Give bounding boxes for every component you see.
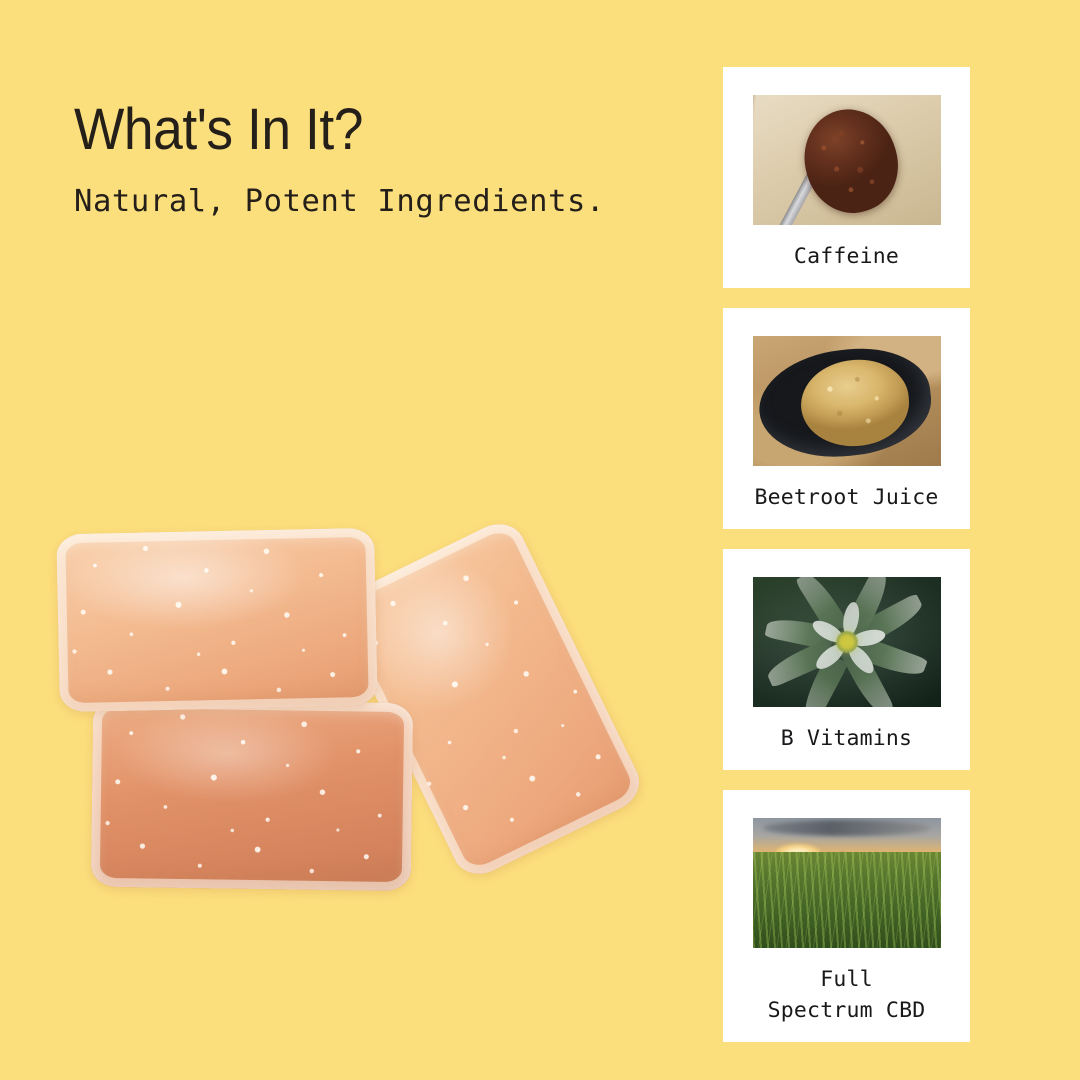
hemp-field-sunset-photo bbox=[753, 818, 941, 948]
powder-on-black-spoon-photo bbox=[753, 336, 941, 466]
ingredient-label: Caffeine bbox=[794, 241, 899, 272]
ingredient-label: Full Spectrum CBD bbox=[768, 964, 926, 1026]
page-subtitle: Natural, Potent Ingredients. bbox=[74, 182, 694, 222]
coffee-grounds-on-spoon-photo bbox=[753, 95, 941, 225]
ingredient-label: B Vitamins bbox=[781, 723, 912, 754]
gummy-piece-bottom bbox=[91, 699, 414, 891]
ingredient-card-b-vitamins[interactable]: B Vitamins bbox=[723, 549, 970, 770]
ingredient-card-full-spectrum-cbd[interactable]: Full Spectrum CBD bbox=[723, 790, 970, 1042]
ingredient-card-caffeine[interactable]: Caffeine bbox=[723, 67, 970, 288]
ingredients-infographic: What's In It? Natural, Potent Ingredient… bbox=[0, 0, 1080, 1080]
green-plant-flower-photo bbox=[753, 577, 941, 707]
gummy-piece-top bbox=[56, 528, 378, 713]
page-title: What's In It? bbox=[74, 100, 644, 160]
product-photo bbox=[40, 505, 700, 925]
header-block: What's In It? Natural, Potent Ingredient… bbox=[74, 100, 694, 222]
ingredient-card-beetroot-juice[interactable]: Beetroot Juice bbox=[723, 308, 970, 529]
ingredient-label: Beetroot Juice bbox=[754, 482, 938, 513]
ingredient-card-list: Caffeine Beetroot Juice B Vitamins bbox=[723, 67, 970, 1042]
